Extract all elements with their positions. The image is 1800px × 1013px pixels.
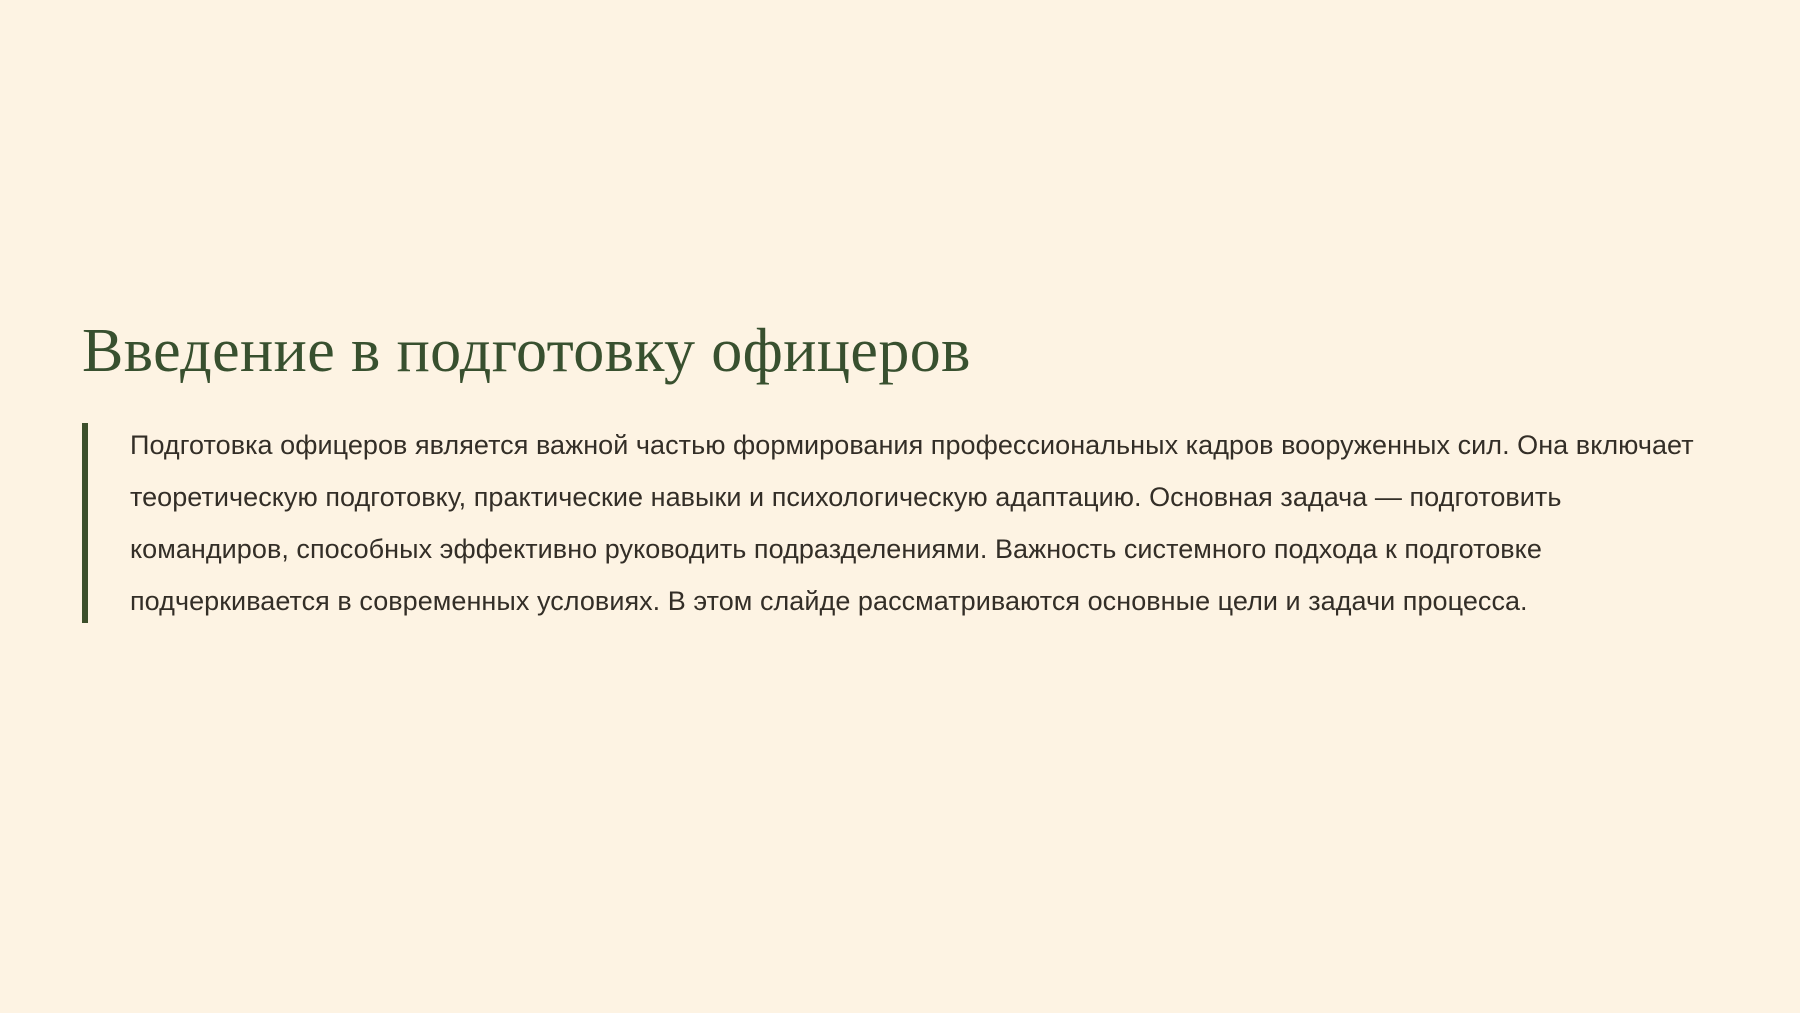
page-title: Введение в подготовку офицеров [82,318,1722,385]
accent-bar [82,423,88,623]
presentation-slide: Введение в подготовку офицеров Подготовк… [0,0,1800,1013]
body-paragraph: Подготовка офицеров является важной част… [130,419,1722,627]
body-callout-block: Подготовка офицеров является важной част… [82,419,1722,627]
slide-content: Введение в подготовку офицеров Подготовк… [82,318,1722,627]
